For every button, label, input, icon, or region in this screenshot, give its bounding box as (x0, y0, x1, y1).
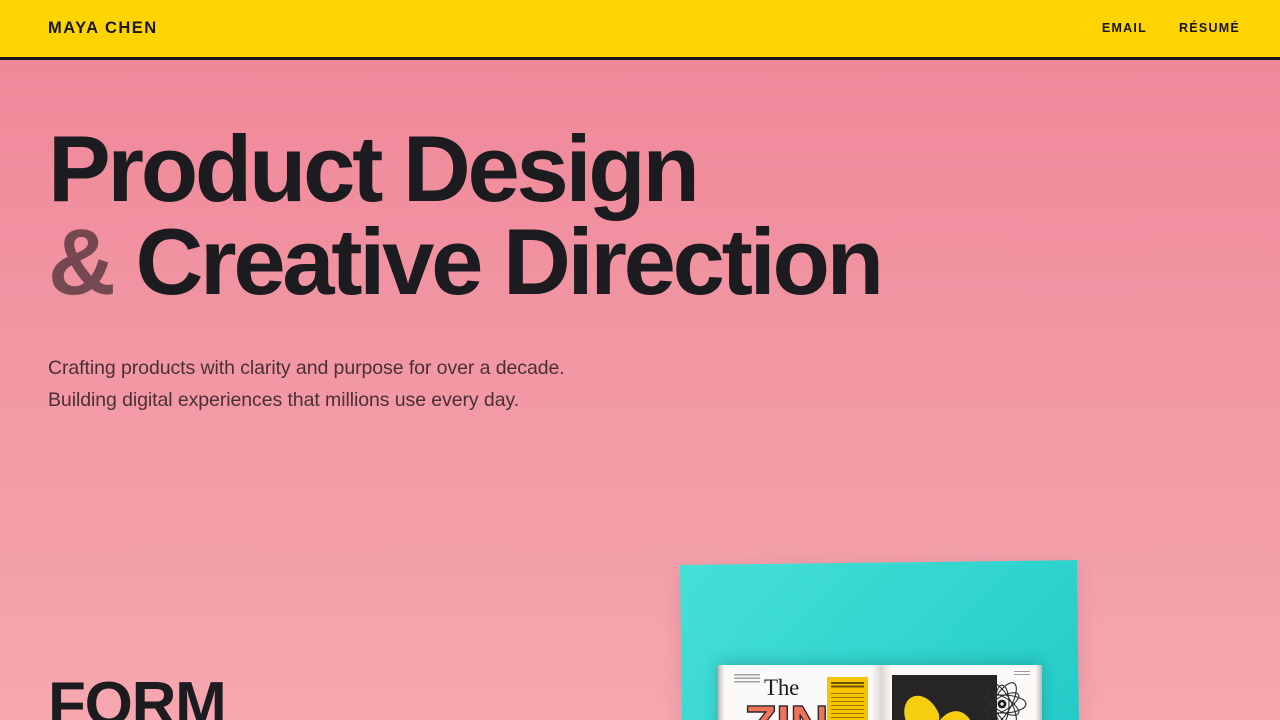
magazine-yellow-sidebar (827, 677, 868, 720)
brand-logo[interactable]: MAYA CHEN (48, 20, 158, 37)
magazine-title: ZIN (744, 698, 828, 720)
subtitle-line-2: Building digital experiences that millio… (48, 384, 1232, 416)
nav-link-resume[interactable]: RÉSUMÉ (1179, 22, 1240, 35)
site-header: MAYA CHEN EMAIL RÉSUMÉ (0, 0, 1280, 60)
next-section-heading: FORM (48, 674, 226, 720)
headline-line-2: & Creative Direction (48, 215, 1232, 308)
page-title: Product Design & Creative Direction (48, 122, 1232, 308)
hero-photo: The ZIN (680, 565, 1080, 720)
headline-ampersand: & (48, 209, 113, 314)
magazine-left-page: The ZIN (718, 665, 882, 720)
headline-line-2-text: Creative Direction (135, 209, 880, 314)
magazine-right-page (882, 665, 1042, 720)
primary-nav: EMAIL RÉSUMÉ (1102, 22, 1240, 35)
page-edge-right (1035, 665, 1042, 720)
teardrop-shape-small (897, 689, 944, 720)
page-edge-left (718, 665, 725, 720)
hero-subtitle: Crafting products with clarity and purpo… (48, 352, 1232, 417)
page-root: MAYA CHEN EMAIL RÉSUMÉ Product Design & … (0, 0, 1280, 720)
page-number-lines (1014, 671, 1030, 676)
left-page-kicker-lines (734, 674, 760, 683)
hero-section: Product Design & Creative Direction Craf… (0, 60, 1280, 720)
sidebar-heading-lines (831, 682, 864, 689)
headline-line-1: Product Design (48, 122, 1232, 215)
subtitle-line-1: Crafting products with clarity and purpo… (48, 352, 1232, 384)
nav-link-email[interactable]: EMAIL (1102, 22, 1147, 35)
hero-content: Product Design & Creative Direction Craf… (0, 60, 1280, 417)
sidebar-body-lines (831, 693, 864, 720)
atom-diagram-icon (976, 679, 1028, 720)
magazine-spread: The ZIN (718, 665, 1042, 720)
